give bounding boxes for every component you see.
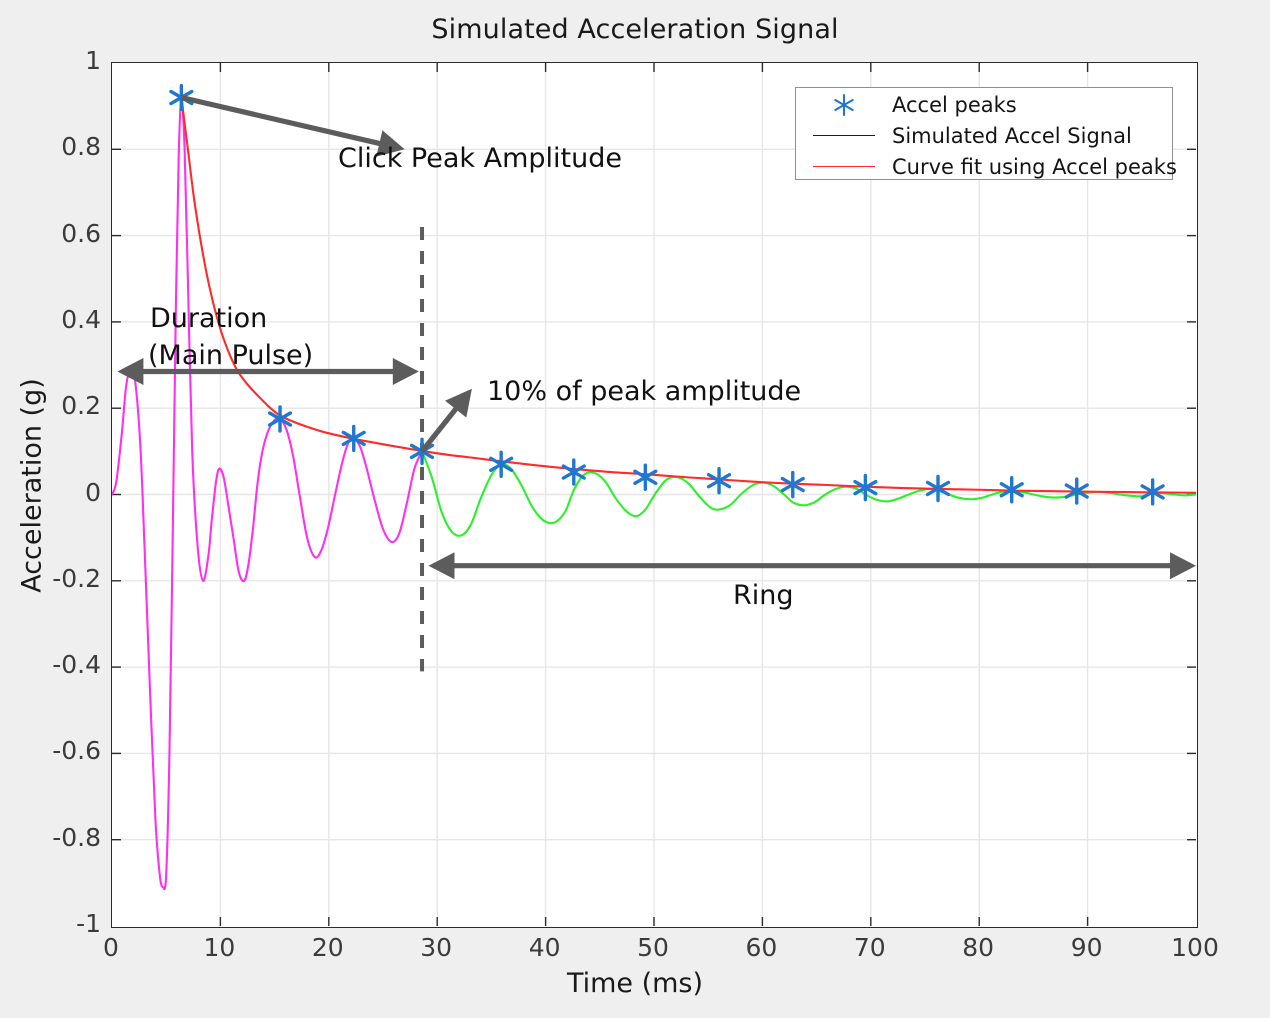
legend-label-accel-peaks: Accel peaks (892, 93, 1017, 117)
asterisk-icon (796, 90, 892, 119)
y-tick-label: -0.6 (11, 736, 101, 765)
x-tick-label: 70 (830, 933, 910, 962)
x-tick-label: 50 (613, 933, 693, 962)
x-tick-label: 90 (1047, 933, 1127, 962)
y-tick-label: 1 (11, 46, 101, 75)
x-tick-label: 30 (396, 933, 476, 962)
annotation-click-peak-amplitude: Click Peak Amplitude (338, 143, 622, 174)
x-tick-label: 20 (288, 933, 368, 962)
x-tick-label: 80 (938, 933, 1018, 962)
legend-item-curve-fit[interactable]: Curve fit using Accel peaks (796, 152, 1172, 181)
y-tick-label: 0.4 (11, 305, 101, 334)
x-axis-label: Time (ms) (0, 968, 1270, 999)
plot-area (111, 62, 1198, 928)
chart-title: Simulated Acceleration Signal (0, 14, 1270, 45)
plot-canvas (112, 63, 1196, 926)
y-tick-label: 0.6 (11, 219, 101, 248)
legend-item-simulated-signal[interactable]: Simulated Accel Signal (796, 121, 1172, 150)
annotation-arrow-ten-percent-of-peak (422, 389, 472, 452)
x-tick-label: 40 (505, 933, 585, 962)
line-swatch-red (796, 152, 892, 181)
accel-peak-marker (563, 460, 584, 484)
y-tick-label: 0.2 (11, 391, 101, 420)
annotation-ring: Ring (733, 580, 794, 611)
y-tick-label: -0.8 (11, 823, 101, 852)
x-tick-label: 60 (721, 933, 801, 962)
y-tick-label: -0.2 (11, 564, 101, 593)
annotation-duration-line2: (Main Pulse) (148, 340, 313, 371)
legend-label-curve-fit: Curve fit using Accel peaks (892, 155, 1177, 179)
legend[interactable]: Accel peaks Simulated Accel Signal Curve… (795, 87, 1173, 180)
legend-label-simulated-signal: Simulated Accel Signal (892, 124, 1132, 148)
y-tick-label: -0.4 (11, 650, 101, 679)
series-line (112, 97, 422, 889)
annotation-arrow-ring (429, 552, 1197, 579)
x-tick-label: 10 (179, 933, 259, 962)
y-tick-label: 0 (11, 478, 101, 507)
legend-item-accel-peaks[interactable]: Accel peaks (796, 90, 1172, 119)
chart-figure: Simulated Acceleration Signal Accelerati… (0, 0, 1270, 1018)
annotation-ten-percent-of-peak: 10% of peak amplitude (487, 376, 801, 407)
y-tick-label: 0.8 (11, 132, 101, 161)
x-tick-label: 0 (71, 933, 151, 962)
annotation-duration-line1: Duration (150, 303, 267, 334)
accel-peak-marker (635, 465, 656, 489)
x-tick-label: 100 (1155, 933, 1235, 962)
line-swatch-blue (796, 121, 892, 150)
